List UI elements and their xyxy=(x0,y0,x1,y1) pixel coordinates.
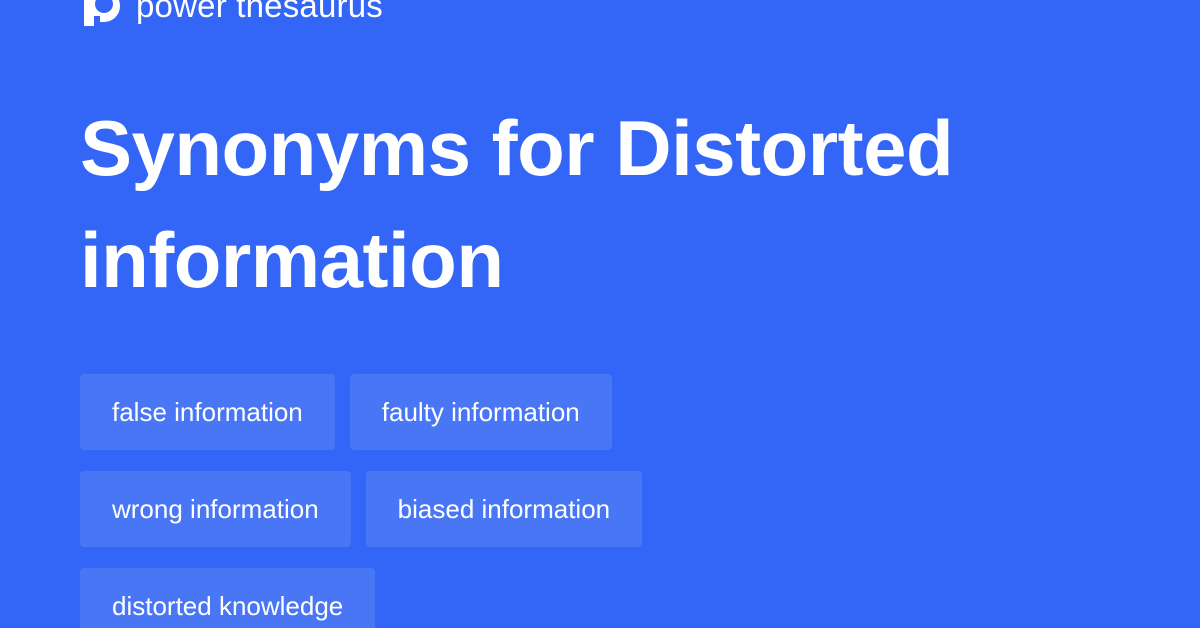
synonym-row: distorted knowledge xyxy=(80,568,1140,628)
synonym-chip[interactable]: faulty information xyxy=(350,374,612,450)
synonym-row: wrong information biased information xyxy=(80,471,1140,547)
synonym-chip[interactable]: wrong information xyxy=(80,471,351,547)
page-title: Synonyms for Distorted information xyxy=(80,92,1080,316)
brand-logo[interactable]: power thesaurus xyxy=(80,0,383,30)
social-share-card: power thesaurus Synonyms for Distorted i… xyxy=(0,0,1200,628)
synonym-chip[interactable]: biased information xyxy=(366,471,642,547)
synonym-chip[interactable]: false information xyxy=(80,374,335,450)
synonym-row: false information faulty information xyxy=(80,374,1140,450)
synonym-chip[interactable]: distorted knowledge xyxy=(80,568,375,628)
brand-name: power thesaurus xyxy=(136,0,383,26)
synonym-chip-list: false information faulty information wro… xyxy=(80,374,1140,628)
power-thesaurus-p-logo-icon xyxy=(80,0,120,26)
